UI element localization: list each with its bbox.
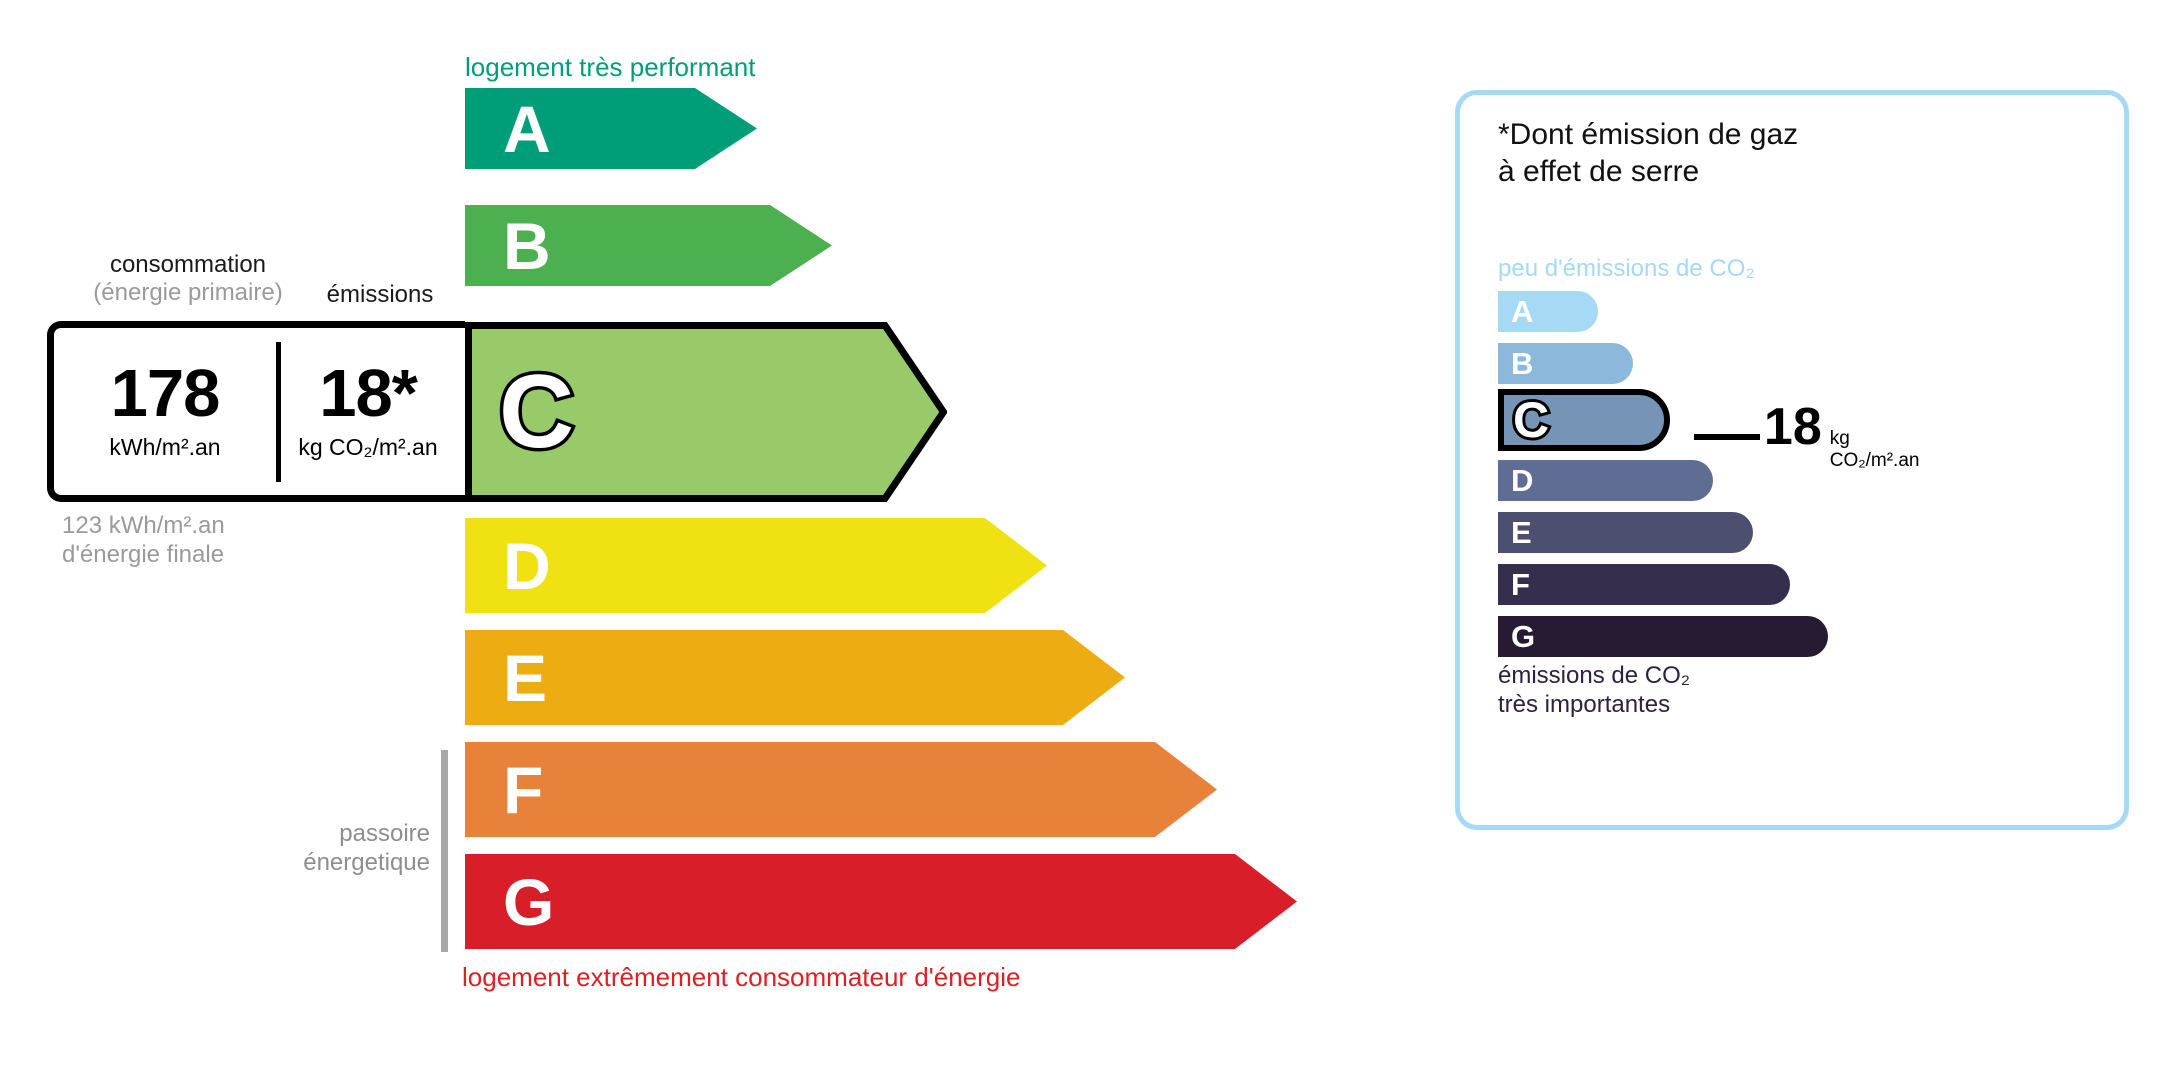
passoire-line-1: passoire (200, 820, 430, 849)
arrow-shape-f (465, 742, 1217, 837)
co2-panel-title: *Dont émission de gaz à effet de serre (1498, 117, 1798, 190)
passoire-label: passoire énergetique (200, 820, 430, 878)
energy-top-caption: logement très performant (465, 52, 755, 83)
co2-row-g: G (1498, 616, 1828, 657)
energy-class-letter-e: E (503, 645, 547, 711)
final-energy-note: 123 kWh/m².an d'énergie finale (62, 511, 225, 570)
emissions-unit: kg CO₂/m².an (298, 434, 437, 461)
co2-bar-a: A (1498, 291, 1598, 332)
emissions-value: 18* (319, 362, 417, 426)
co2-row-b: B (1498, 343, 1828, 384)
energy-class-arrow-d: D (465, 518, 1047, 613)
energy-class-letter-c: C (499, 360, 574, 464)
passoire-bracket (441, 750, 448, 952)
co2-bar-g: G (1498, 616, 1828, 657)
passoire-line-2: énergetique (200, 849, 430, 878)
arrow-shape-e (465, 630, 1125, 725)
emissions-cell: 18* kg CO₂/m².an (278, 328, 458, 495)
arrow-shape-d (465, 518, 1047, 613)
measurement-box: 178 kWh/m².an 18* kg CO₂/m².an (47, 321, 465, 502)
co2-bar-e: E (1498, 512, 1753, 553)
consumption-header-sub: (énergie primaire) (63, 279, 313, 307)
energy-class-letter-a: A (503, 96, 551, 162)
co2-bottom-line-2: très importantes (1498, 691, 1690, 720)
co2-panel: *Dont émission de gaz à effet de serre p… (1455, 90, 2129, 830)
co2-class-letter-f: F (1511, 569, 1530, 600)
energy-class-arrow-e: E (465, 630, 1125, 725)
energy-class-letter-f: F (503, 757, 543, 823)
energy-class-letter-b: B (503, 213, 551, 279)
consumption-header: consommation (énergie primaire) (63, 251, 313, 307)
co2-row-d: D (1498, 460, 1828, 501)
co2-top-caption: peu d'émissions de CO₂ (1498, 255, 1755, 283)
co2-callout-value: 18 (1764, 401, 1822, 453)
energy-bottom-caption: logement extrêmement consommateur d'éner… (462, 962, 1020, 993)
energy-class-arrow-f: F (465, 742, 1217, 837)
co2-class-bars: ABC18kg CO₂/m².anDEFG (1498, 291, 1828, 668)
co2-class-letter-d: D (1511, 465, 1533, 496)
emissions-header: émissions (300, 281, 460, 309)
co2-row-f: F (1498, 564, 1828, 605)
energy-class-arrow-g: G (465, 854, 1297, 949)
co2-title-line-2: à effet de serre (1498, 154, 1798, 191)
consumption-cell: 178 kWh/m².an (54, 328, 276, 495)
energy-class-arrow-b: B (465, 205, 832, 286)
consumption-header-main: consommation (110, 251, 266, 278)
final-energy-value: 123 kWh/m².an (62, 511, 225, 540)
arrow-shape-g (465, 854, 1297, 949)
co2-class-letter-b: B (1511, 348, 1533, 379)
co2-bottom-caption: émissions de CO₂ très importantes (1498, 662, 1690, 720)
co2-bottom-line-1: émissions de CO₂ (1498, 662, 1690, 691)
co2-class-letter-g: G (1511, 621, 1535, 652)
consumption-unit: kWh/m².an (109, 434, 220, 461)
energy-class-arrow-c: C (465, 322, 947, 502)
co2-class-letter-e: E (1511, 517, 1532, 548)
co2-class-letter-a: A (1511, 296, 1533, 327)
energy-performance-panel: logement très performant consommation (é… (0, 0, 1400, 1079)
co2-bar-c: C (1498, 389, 1670, 451)
callout-leader-line (1694, 434, 1760, 440)
co2-row-e: E (1498, 512, 1828, 553)
co2-bar-b: B (1498, 343, 1633, 384)
co2-class-letter-c: C (1513, 395, 1549, 445)
energy-class-arrow-a: A (465, 88, 757, 169)
energy-class-letter-d: D (503, 533, 551, 599)
consumption-value: 178 (111, 362, 220, 426)
co2-callout-unit: kg CO₂/m².an (1830, 428, 1930, 472)
final-energy-label: d'énergie finale (62, 540, 225, 569)
co2-bar-d: D (1498, 460, 1713, 501)
co2-title-line-1: *Dont émission de gaz (1498, 117, 1798, 154)
energy-class-letter-g: G (503, 869, 554, 935)
co2-row-a: A (1498, 291, 1828, 332)
dpe-diagram: logement très performant consommation (é… (0, 0, 2169, 1079)
co2-row-c: C18kg CO₂/m².an (1498, 389, 1828, 451)
co2-bar-f: F (1498, 564, 1790, 605)
